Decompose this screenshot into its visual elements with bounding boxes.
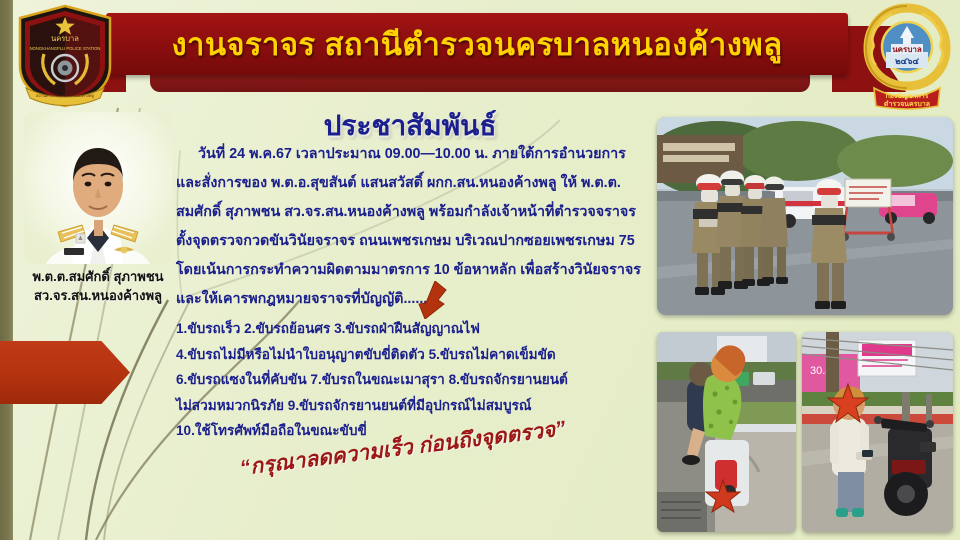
badge-right-scroll-line1: กองบัญชาการ [886, 92, 929, 100]
officer-caption-line1: พ.ต.ต.สมศักดิ์ สุภาพชน [6, 268, 190, 287]
announcement-paragraph: วันที่ 24 พ.ค.67 เวลาประมาณ 09.00—10.00 … [176, 140, 646, 314]
officer-portrait [24, 112, 172, 264]
officer-caption-line2: สว.จร.สน.หนองค้างพลู [6, 287, 190, 306]
badge-left-top-text: นครบาล [51, 34, 79, 43]
paragraph-line: โดยเน้นการกระทำความผิดตามมาตรการ 10 ข้อห… [176, 256, 646, 285]
badge-right-scroll-line2: ตำรวจนครบาล [884, 100, 930, 108]
paragraph-line: ตั้งจุดตรวจกวดขันวินัยจราจร ถนนเพชรเกษม … [176, 227, 646, 256]
page-title: งานจราจร สถานีตำรวจนครบาลหนองค้างพลู [106, 13, 848, 75]
violation-line: 6.ขับรถแซงในที่คับขัน 7.ขับรถในขณะเมาสุร… [176, 367, 646, 393]
officer-caption: พ.ต.ต.สมศักดิ์ สุภาพชน สว.จร.สน.หนองค้าง… [6, 268, 190, 306]
violation-line: 1.ขับรถเร็ว 2.ขับรถย้อนศร 3.ขับรถฝ่าฝืนส… [176, 316, 646, 342]
photo-motorcycle-no-helmet [657, 332, 796, 532]
photo-traffic-police-lineup [657, 117, 953, 315]
police-station-badge-icon: นครบาล NONGKHANGPLU POLICE STATION สถานี… [16, 4, 114, 108]
paragraph-line: สมศักดิ์ สุภาพชน สว.จร.สน.หนองค้างพลู พร… [176, 198, 646, 227]
down-left-arrow-icon [413, 281, 447, 319]
badge-right-year-text: ๒๔๖๔ [895, 56, 919, 66]
photo-rider-checked: 30.8 [802, 332, 953, 532]
infographic-canvas: งานจราจร สถานีตำรวจนครบาลหนองค้างพลู นคร… [0, 0, 960, 540]
violation-line: 4.ขับรถไม่มีหรือไม่นำใบอนุญาตขับขี่ติดตั… [176, 342, 646, 368]
header-banner: งานจราจร สถานีตำรวจนครบาลหนองค้างพลู [0, 0, 960, 110]
paragraph-line: และให้เคารพกฎหมายจราจรที่บัญญัติ........ [176, 285, 646, 314]
metropolitan-police-badge-icon: นครบาล ๒๔๖๔ กองบัญชาการ ตำรวจนครบาล [858, 2, 956, 110]
paragraph-line: และสั่งการของ พ.ต.อ.สุขสันต์ แสนสวัสดิ์ … [176, 169, 646, 198]
red-arrow-banner [0, 341, 130, 404]
badge-right-center-text: นครบาล [892, 45, 922, 54]
paragraph-line: วันที่ 24 พ.ค.67 เวลาประมาณ 09.00—10.00 … [176, 140, 646, 169]
badge-left-mid-text: NONGKHANGPLU POLICE STATION [30, 46, 101, 51]
